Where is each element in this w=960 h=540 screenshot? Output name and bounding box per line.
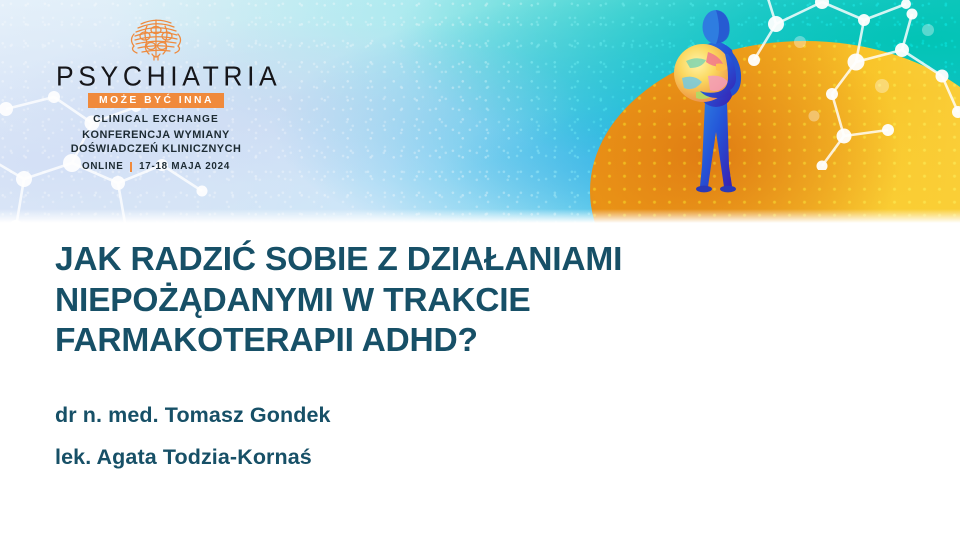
molecular-network-graphic	[736, 0, 960, 170]
scribbled-brain-icon	[125, 14, 187, 62]
logo-wordmark: PSYCHIATRIA	[56, 62, 256, 90]
logo-subtitle-clinical-exchange: CLINICAL EXCHANGE	[56, 115, 256, 125]
title-line-3: FARMAKOTERAPII ADHD?	[55, 321, 905, 362]
banner-bottom-fade	[0, 209, 960, 223]
speaker-list: dr n. med. Tomasz Gondek lek. Agata Todz…	[55, 394, 815, 478]
event-mode: ONLINE	[82, 162, 124, 172]
logo-subtitle-line3: DOŚWIADCZEŃ KLINICZNYCH	[56, 143, 256, 157]
title-line-1: JAK RADZIĆ SOBIE Z DZIAŁANIAMI	[55, 240, 905, 281]
conference-logo: PSYCHIATRIA MOŻE BYĆ INNA CLINICAL EXCHA…	[56, 14, 256, 172]
logo-tagline: MOŻE BYĆ INNA	[88, 93, 224, 108]
separator-icon	[130, 162, 132, 172]
speaker-1: dr n. med. Tomasz Gondek	[55, 394, 815, 436]
event-dates: 17-18 MAJA 2024	[139, 162, 230, 172]
title-line-2: NIEPOŻĄDANYMI W TRAKCIE	[55, 281, 905, 322]
logo-event-meta: ONLINE 17-18 MAJA 2024	[56, 162, 256, 172]
presentation-slide: PSYCHIATRIA MOŻE BYĆ INNA CLINICAL EXCHA…	[0, 0, 960, 540]
logo-subtitle-line2: KONFERENCJA WYMIANY	[56, 129, 256, 143]
page-title: JAK RADZIĆ SOBIE Z DZIAŁANIAMI NIEPOŻĄDA…	[55, 240, 905, 362]
speaker-2: lek. Agata Todzia-Kornaś	[55, 436, 815, 478]
hero-banner: PSYCHIATRIA MOŻE BYĆ INNA CLINICAL EXCHA…	[0, 0, 960, 223]
